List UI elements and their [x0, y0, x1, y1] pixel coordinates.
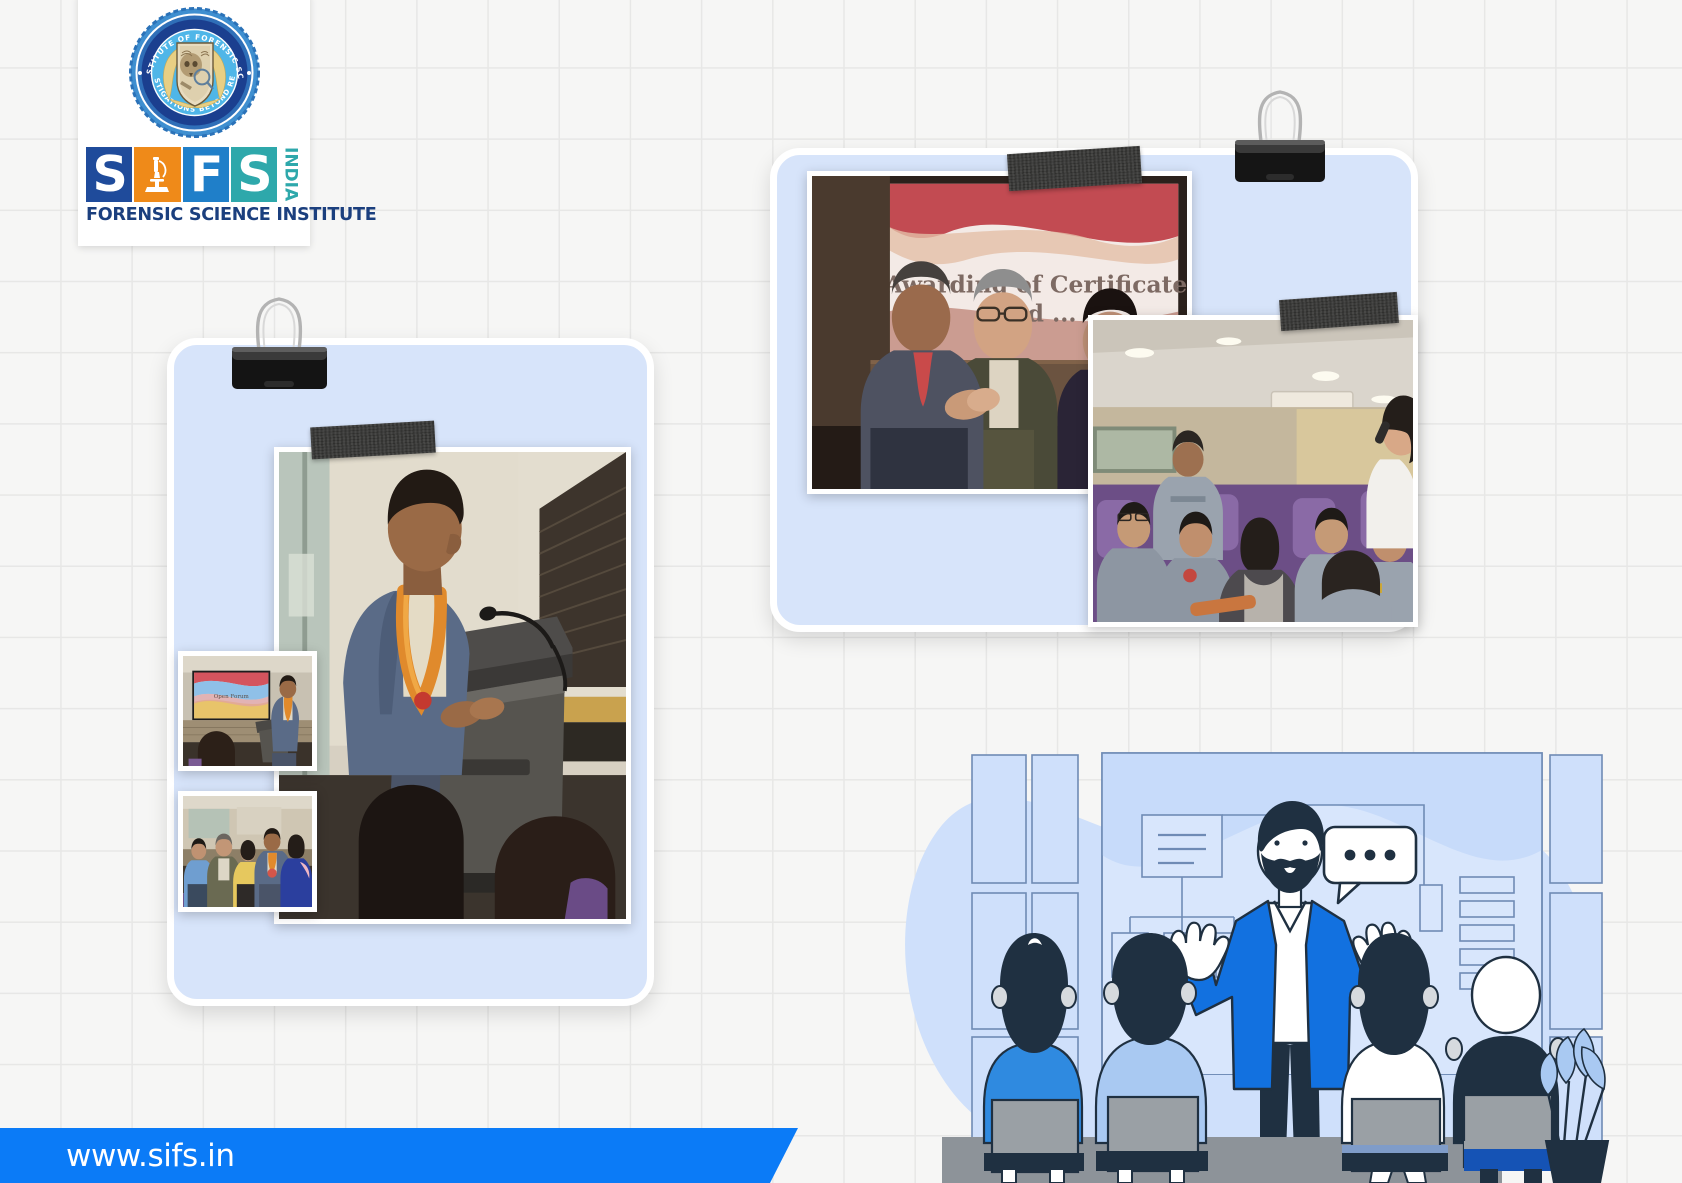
photo-inset-group-stage [178, 791, 317, 912]
sifs-letter-i-microscope [134, 147, 180, 202]
microscope-icon [142, 155, 172, 195]
photo-podium-speaker [274, 447, 631, 924]
binder-clip-left [228, 285, 330, 389]
sifs-logo-card: SHERLOCK INSTITUTE OF FORENSIC SCIENCE I… [78, 0, 310, 246]
training-seminar-illustration [824, 645, 1614, 1183]
binder-clip-right [1232, 78, 1328, 183]
footer-bar: www.sifs.in [0, 1128, 798, 1183]
sifs-letter-f: F [183, 147, 229, 202]
photo-inset-open-forum: Open Forum [178, 651, 317, 771]
sifs-wordmark: S F S INDIA [86, 147, 302, 225]
photo-seminar-audience [1088, 315, 1418, 627]
sifs-tagline: FORENSIC SCIENCE INSTITUTE [86, 205, 302, 225]
sifs-letter-s2: S [231, 147, 277, 202]
website-url[interactable]: www.sifs.in [66, 1138, 235, 1174]
svg-text:Open Forum: Open Forum [214, 694, 250, 700]
sifs-india-tag: INDIA [279, 147, 302, 202]
sherlock-institute-emblem-icon: SHERLOCK INSTITUTE OF FORENSIC SCIENCE I… [129, 7, 260, 138]
sifs-letter-s1: S [86, 147, 132, 202]
